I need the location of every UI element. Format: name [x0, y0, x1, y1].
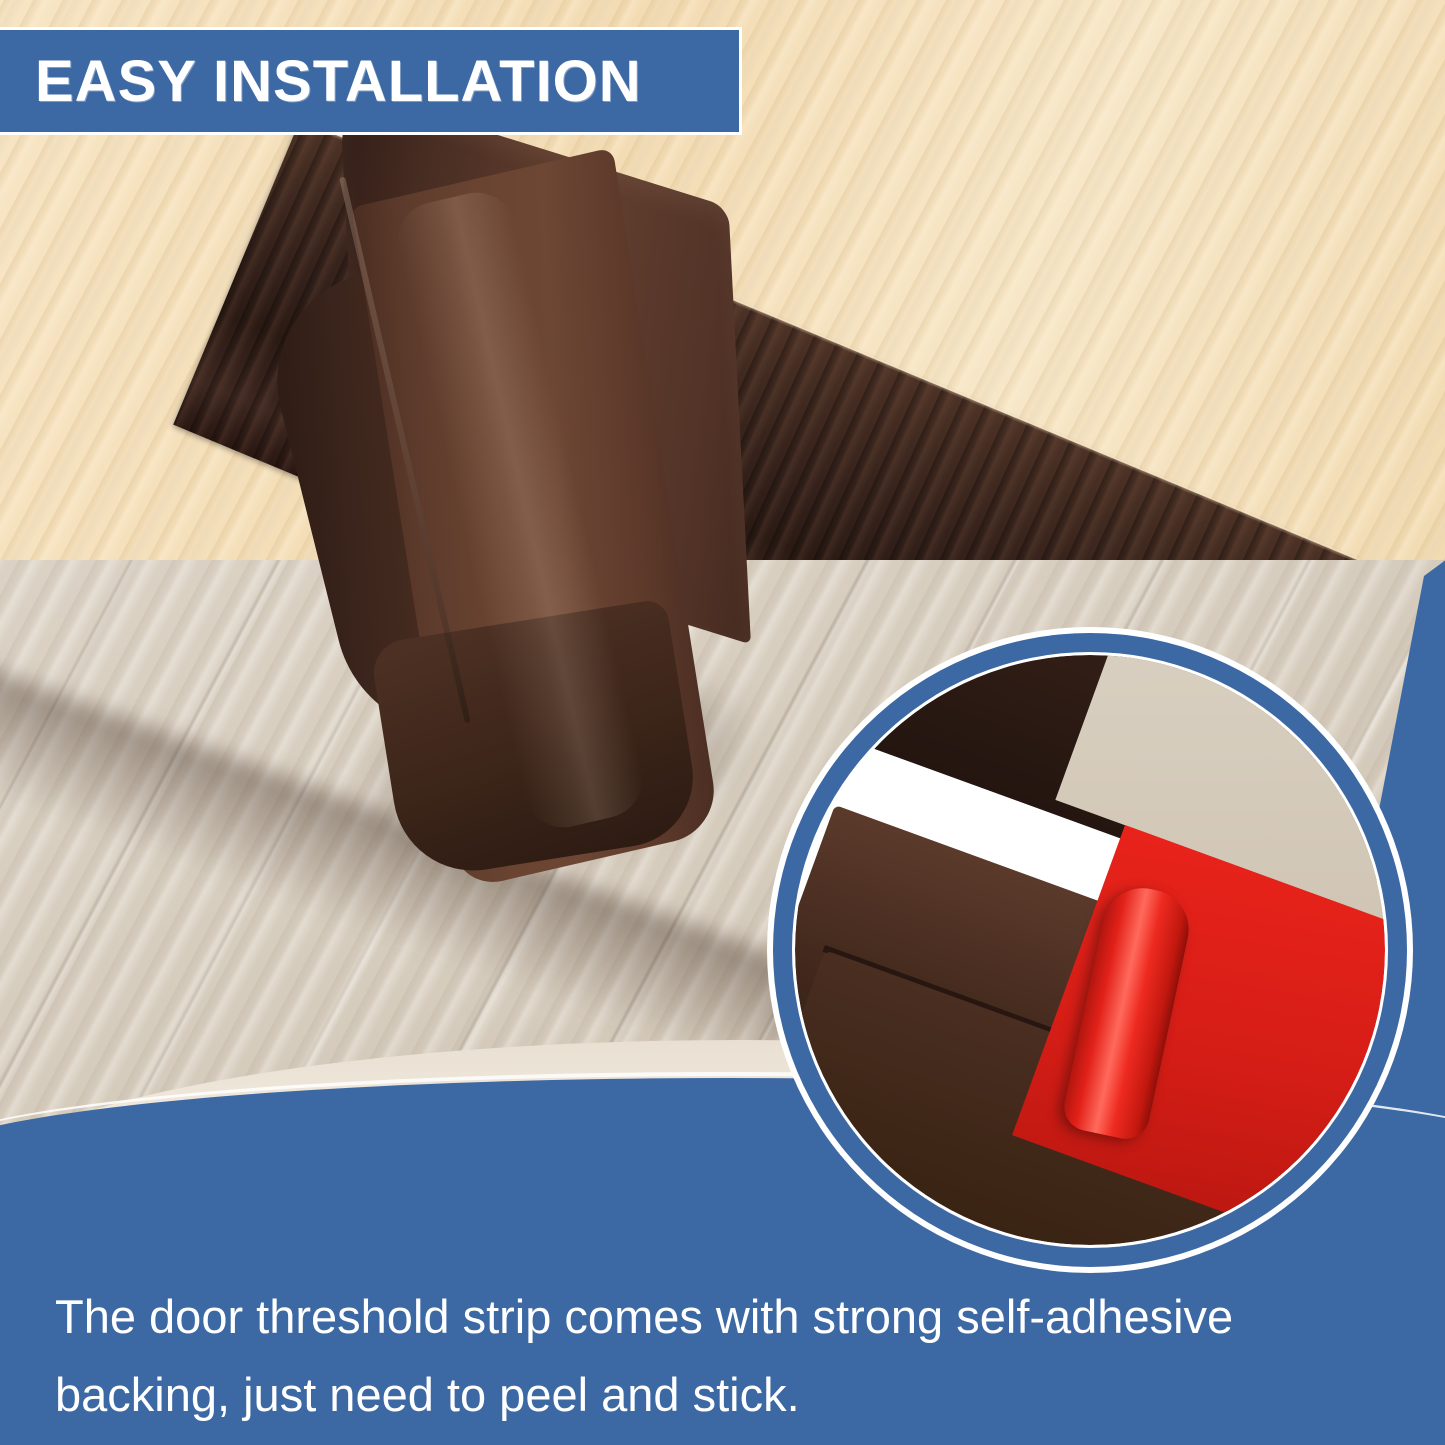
caption-text: The door threshold strip comes with stro… — [55, 1278, 1395, 1434]
banner-title: EASY INSTALLATION — [0, 48, 642, 115]
brown-threshold-seal-strip — [290, 150, 850, 870]
product-infographic: EASY INSTALLATION The door threshold str… — [0, 0, 1445, 1445]
peel-and-stick-detail-callout[interactable] — [795, 655, 1385, 1245]
easy-installation-banner: EASY INSTALLATION — [0, 27, 742, 135]
callout-photo — [795, 655, 1385, 1245]
